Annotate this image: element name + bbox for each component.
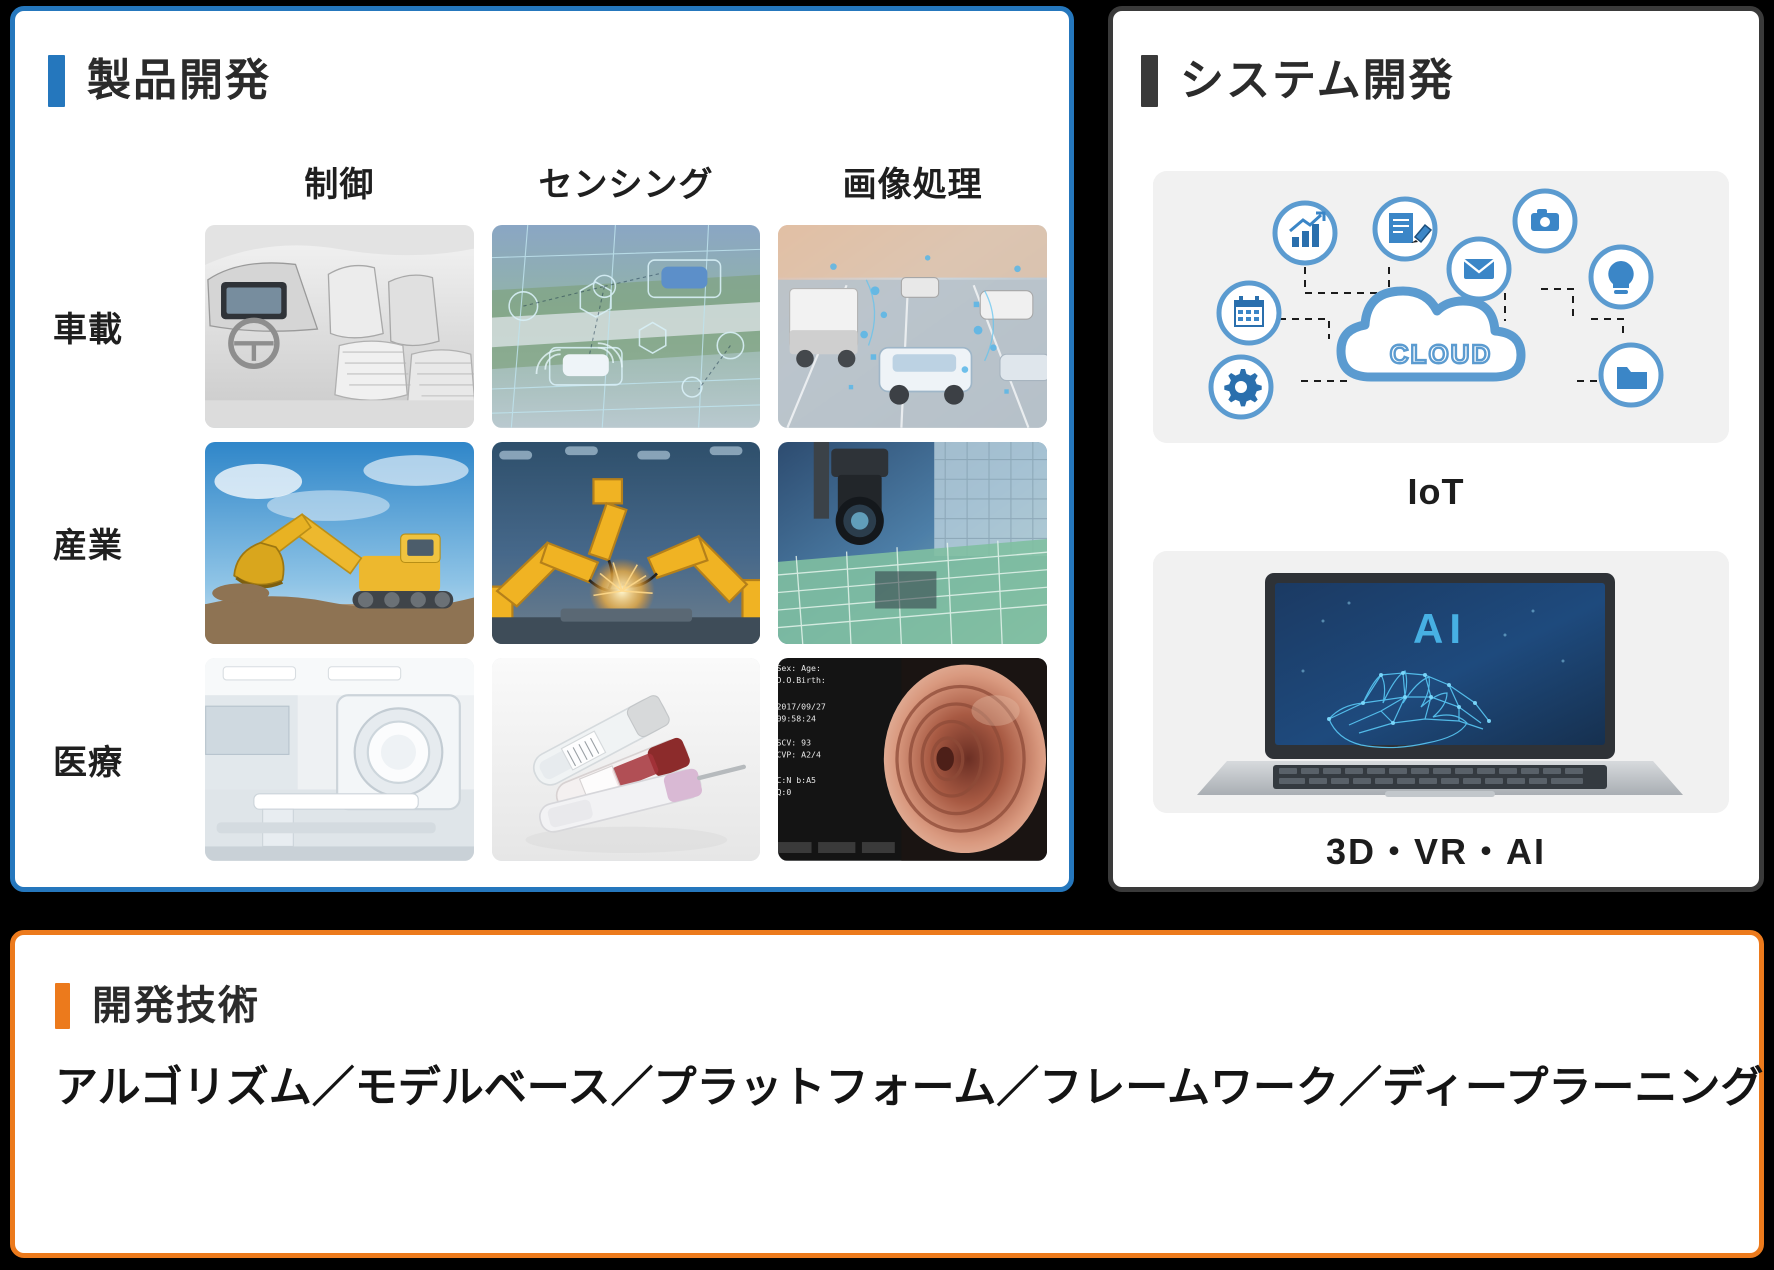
development-technology-list: アルゴリズム／モデルベース／プラットフォーム／フレームワーク／ディープラーニング <box>55 1053 1715 1115</box>
product-development-card: 製品開発 制御 センシング 画像処理 車載 <box>10 6 1074 892</box>
row-header-medical: 医療 <box>37 658 187 861</box>
svg-text:SCV: 93: SCV: 93 <box>778 738 811 748</box>
accent-bar-orange <box>55 983 70 1029</box>
accent-bar-dark <box>1141 55 1158 107</box>
accent-bar-blue <box>48 55 65 107</box>
svg-text:Sex: Age:: Sex: Age: <box>778 663 821 673</box>
system-development-card: システム開発 CLOUD <box>1108 6 1764 892</box>
svg-text:2017/09/27: 2017/09/27 <box>778 702 826 712</box>
gear-icon <box>1224 369 1261 406</box>
svg-text:D.O.Birth:: D.O.Birth: <box>778 676 826 686</box>
system-development-heading: システム開発 <box>1141 55 1455 107</box>
infographic-root: 製品開発 制御 センシング 画像処理 車載 <box>0 0 1774 1270</box>
development-technology-title: 開発技術 <box>92 986 260 1026</box>
svg-text:C:N b:A5: C:N b:A5 <box>778 775 816 785</box>
column-header-control: 制御 <box>205 151 474 211</box>
row-header-automotive: 車載 <box>37 225 187 428</box>
laptop-ai-image: AI <box>1153 551 1729 813</box>
development-technology-heading: 開発技術 <box>55 983 260 1029</box>
cell-medical-control <box>205 658 474 861</box>
cell-automotive-sensing <box>492 225 761 428</box>
cell-industrial-image-processing <box>778 442 1047 645</box>
laptop-ai-text: AI <box>1413 605 1467 652</box>
svg-text:09:58:24: 09:58:24 <box>778 714 816 724</box>
cell-industrial-sensing <box>492 442 761 645</box>
cell-automotive-control <box>205 225 474 428</box>
mail-icon <box>1464 259 1494 279</box>
svg-text:CVP: A2/4: CVP: A2/4 <box>778 750 821 760</box>
svg-text:Q:0: Q:0 <box>778 787 791 797</box>
system-development-title: システム開発 <box>1180 59 1455 103</box>
cell-medical-image-processing: Sex: Age: D.O.Birth: 2017/09/27 09:58:24… <box>778 658 1047 861</box>
product-matrix: 制御 センシング 画像処理 車載 <box>37 151 1047 861</box>
cell-industrial-control <box>205 442 474 645</box>
column-header-sensing: センシング <box>492 151 761 211</box>
iot-label: IoT <box>1113 471 1759 513</box>
matrix-corner-empty <box>37 151 187 211</box>
calendar-icon <box>1235 296 1263 326</box>
row-header-industrial: 産業 <box>37 442 187 645</box>
development-technology-card: 開発技術 アルゴリズム／モデルベース／プラットフォーム／フレームワーク／ディープ… <box>10 930 1764 1258</box>
iot-cloud-diagram: CLOUD <box>1153 171 1729 443</box>
column-header-image-processing: 画像処理 <box>778 151 1047 211</box>
product-development-heading: 製品開発 <box>48 55 271 107</box>
product-development-title: 製品開発 <box>87 59 271 103</box>
cell-automotive-image-processing <box>778 225 1047 428</box>
vr-ai-label: 3D・VR・AI <box>1113 823 1759 875</box>
cell-medical-sensing <box>492 658 761 861</box>
cloud-label: CLOUD <box>1390 339 1492 369</box>
